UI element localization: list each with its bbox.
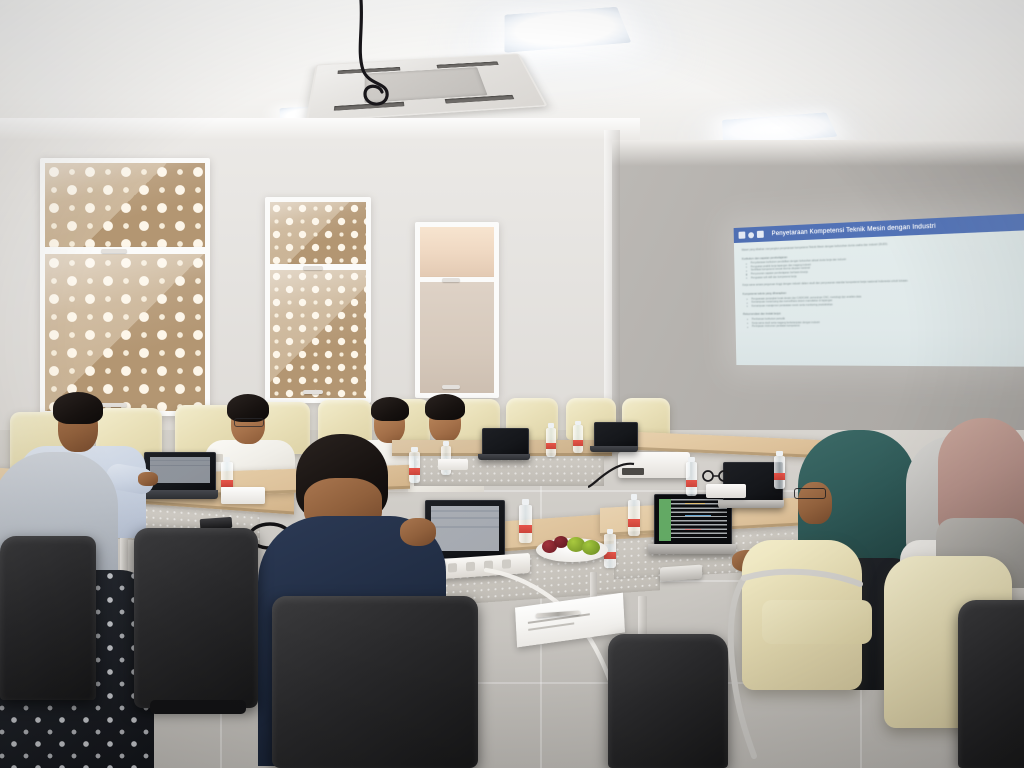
eyeglasses-icon bbox=[700, 470, 736, 482]
eyeglasses-icon bbox=[794, 488, 826, 499]
window-upper-sash bbox=[420, 227, 494, 277]
logo-mark-1-icon bbox=[738, 231, 745, 238]
slide-body: Materi yang dibahas menyangkut penyetara… bbox=[734, 230, 1024, 366]
window-lower-sash bbox=[270, 270, 366, 398]
water-bottle[interactable] bbox=[546, 428, 556, 457]
logo-mark-2-icon bbox=[748, 232, 754, 238]
window-handle[interactable] bbox=[442, 385, 460, 389]
laptop-keyboard[interactable] bbox=[478, 454, 530, 460]
document-line bbox=[528, 622, 574, 630]
green-apple bbox=[582, 540, 600, 555]
ceiling-ac-unit bbox=[306, 53, 548, 122]
hand bbox=[400, 518, 436, 546]
water-bottle[interactable] bbox=[519, 505, 532, 543]
chair-foreground-left[interactable] bbox=[134, 528, 258, 708]
eyeglasses-icon bbox=[234, 418, 264, 427]
terminal-line bbox=[685, 503, 705, 504]
slide-section-c-list: Pembaruan kurikulum periodik Kerja sama … bbox=[749, 314, 1022, 329]
hair bbox=[371, 397, 409, 421]
laptop-screen bbox=[594, 422, 638, 448]
chair-chrome-frame-icon bbox=[720, 560, 880, 760]
hanging-cable-icon bbox=[349, 0, 419, 120]
fruit-plate bbox=[536, 538, 608, 562]
roller-blind bbox=[420, 282, 494, 393]
socket[interactable] bbox=[466, 562, 475, 572]
window-upper-sash bbox=[270, 202, 366, 264]
window-right-blind bbox=[415, 222, 499, 398]
water-bottle[interactable] bbox=[774, 456, 785, 489]
projected-slide: Penyetaraan Kompetensi Teknik Mesin deng… bbox=[734, 213, 1024, 366]
roller-blind bbox=[420, 227, 494, 277]
grapes bbox=[554, 536, 568, 548]
water-bottle[interactable] bbox=[573, 425, 583, 453]
hijab bbox=[938, 418, 1024, 534]
laptop-keyboard[interactable] bbox=[648, 544, 736, 554]
smartphone[interactable] bbox=[660, 565, 702, 582]
window-lower-sash bbox=[420, 282, 494, 393]
terminal-text bbox=[659, 499, 727, 541]
window-glare bbox=[270, 270, 366, 398]
led-panel-1 bbox=[504, 7, 631, 53]
window-handle[interactable] bbox=[303, 266, 323, 270]
laptop-back-left[interactable] bbox=[478, 428, 530, 460]
slide-surface: Penyetaraan Kompetensi Teknik Mesin deng… bbox=[734, 213, 1024, 366]
hair bbox=[53, 392, 103, 424]
terminal-line bbox=[685, 529, 701, 530]
laptop-back-right[interactable] bbox=[590, 422, 638, 452]
window-mid-large bbox=[265, 197, 371, 403]
laptop-keyboard[interactable] bbox=[590, 446, 638, 452]
small-box[interactable] bbox=[706, 484, 746, 498]
laptop-keyboard[interactable] bbox=[718, 500, 784, 508]
socket[interactable] bbox=[448, 563, 457, 573]
logo-mark-3-icon bbox=[757, 231, 764, 238]
window-handle[interactable] bbox=[303, 390, 323, 394]
window-upper-sash bbox=[45, 163, 205, 247]
chair-right-seat[interactable] bbox=[762, 600, 872, 644]
chair-foreground-center[interactable] bbox=[272, 596, 478, 768]
window-handle[interactable] bbox=[101, 249, 127, 253]
chair-foreground-right[interactable] bbox=[608, 634, 728, 768]
window-handle[interactable] bbox=[442, 278, 460, 282]
window-left-large bbox=[40, 158, 210, 416]
projector-cable-icon bbox=[588, 458, 636, 488]
window-glare bbox=[270, 202, 366, 264]
chair-base bbox=[150, 700, 246, 714]
hair bbox=[425, 394, 465, 420]
chair-bottom-right[interactable] bbox=[958, 600, 1024, 768]
terminal-line bbox=[685, 515, 711, 516]
water-bottle[interactable] bbox=[686, 462, 697, 496]
water-bottle[interactable] bbox=[628, 500, 640, 536]
meeting-room-photo: Penyetaraan Kompetensi Teknik Mesin deng… bbox=[0, 0, 1024, 768]
laptop-screen bbox=[482, 428, 529, 456]
window-glare bbox=[45, 163, 205, 247]
chair-foreground-far-left[interactable] bbox=[0, 536, 96, 700]
